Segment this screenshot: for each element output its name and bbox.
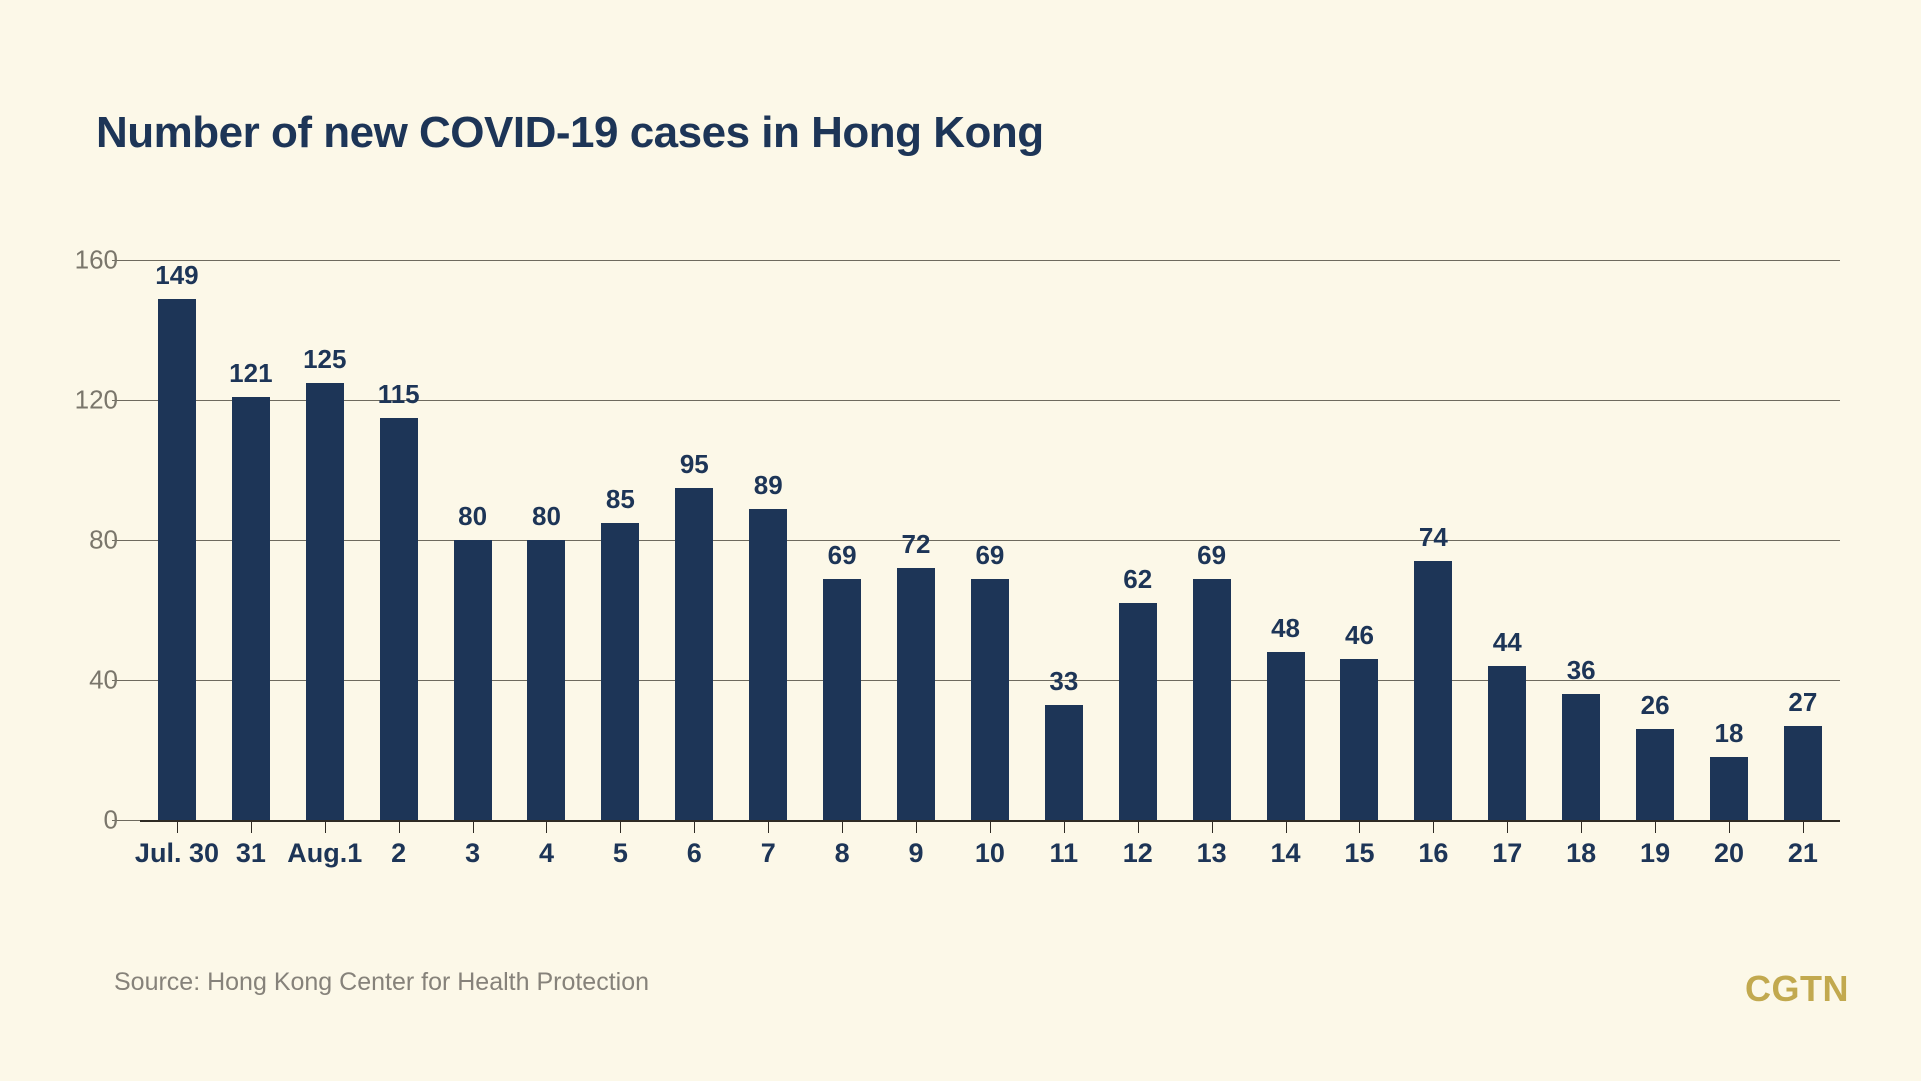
x-axis-tick-slot xyxy=(1027,820,1101,834)
x-axis-tick xyxy=(399,820,400,833)
bar[interactable]: 69 xyxy=(1193,579,1231,821)
x-axis-label-slot: 8 xyxy=(805,838,879,878)
bar-slot: 44 xyxy=(1470,260,1544,820)
x-axis-labels: Jul. 3031Aug.123456789101112131415161718… xyxy=(140,838,1840,878)
bar[interactable]: 46 xyxy=(1340,659,1378,820)
x-axis-tick-slot xyxy=(288,820,362,834)
bar-slot: 95 xyxy=(657,260,731,820)
bar-slot: 69 xyxy=(805,260,879,820)
bar-value-label: 80 xyxy=(458,501,487,532)
x-axis-tick-label: 8 xyxy=(835,838,850,869)
x-axis-label-slot: 18 xyxy=(1544,838,1618,878)
bar[interactable]: 89 xyxy=(749,509,787,821)
chart-title: Number of new COVID-19 cases in Hong Kon… xyxy=(96,108,1044,158)
x-axis-tick-slot xyxy=(583,820,657,834)
x-axis-label-slot: 2 xyxy=(362,838,436,878)
bar-value-label: 69 xyxy=(1197,540,1226,571)
x-axis-tick-label: 21 xyxy=(1788,838,1818,869)
x-axis-tick xyxy=(251,820,252,833)
x-axis-label-slot: 15 xyxy=(1323,838,1397,878)
x-axis-tick xyxy=(1138,820,1139,833)
bar-value-label: 149 xyxy=(155,260,198,291)
x-axis-tick-slot xyxy=(657,820,731,834)
x-axis-tick-label: 14 xyxy=(1271,838,1301,869)
x-axis-tick-slot xyxy=(140,820,214,834)
x-axis-label-slot: 14 xyxy=(1249,838,1323,878)
x-axis-tick-slot xyxy=(1618,820,1692,834)
x-axis-tick-slot xyxy=(731,820,805,834)
x-axis-tick xyxy=(768,820,769,833)
chart-container: Number of new COVID-19 cases in Hong Kon… xyxy=(0,0,1921,1081)
x-axis-tick xyxy=(1064,820,1065,833)
bar[interactable]: 33 xyxy=(1045,705,1083,821)
x-axis-tick-slot xyxy=(1175,820,1249,834)
bar-slot: 125 xyxy=(288,260,362,820)
bar-value-label: 121 xyxy=(229,358,272,389)
bar[interactable]: 62 xyxy=(1119,603,1157,820)
bar[interactable]: 95 xyxy=(675,488,713,821)
x-axis-label-slot: 12 xyxy=(1101,838,1175,878)
x-axis-tick-label: 2 xyxy=(391,838,406,869)
bar-value-label: 115 xyxy=(378,379,420,410)
x-axis-tick-slot xyxy=(362,820,436,834)
bar[interactable]: 115 xyxy=(380,418,418,821)
bar-value-label: 44 xyxy=(1493,627,1522,658)
x-axis-tick xyxy=(916,820,917,833)
x-axis-tick xyxy=(473,820,474,833)
bar[interactable]: 74 xyxy=(1414,561,1452,820)
bar-value-label: 69 xyxy=(975,540,1004,571)
x-axis-tick-slot xyxy=(1396,820,1470,834)
x-axis-tick xyxy=(990,820,991,833)
bars-layer: 1491211251158080859589697269336269484674… xyxy=(140,260,1840,820)
x-axis-tick-label: Jul. 30 xyxy=(135,838,219,869)
x-axis-tick-label: 12 xyxy=(1123,838,1153,869)
x-axis-tick-slot xyxy=(953,820,1027,834)
bar-slot: 115 xyxy=(362,260,436,820)
x-axis-tick-label: 5 xyxy=(613,838,628,869)
y-axis-tick-label: 0 xyxy=(104,805,118,836)
x-axis-label-slot: 20 xyxy=(1692,838,1766,878)
x-axis-tick-label: Aug.1 xyxy=(287,838,362,869)
x-axis-tick-label: 15 xyxy=(1344,838,1374,869)
bar-slot: 121 xyxy=(214,260,288,820)
bar-slot: 36 xyxy=(1544,260,1618,820)
x-axis-tick-label: 4 xyxy=(539,838,554,869)
bar-slot: 62 xyxy=(1101,260,1175,820)
bar-value-label: 125 xyxy=(303,344,346,375)
bar-value-label: 48 xyxy=(1271,613,1300,644)
x-axis-tick-label: 20 xyxy=(1714,838,1744,869)
bar-value-label: 74 xyxy=(1419,522,1448,553)
bar-value-label: 36 xyxy=(1567,655,1596,686)
y-axis-tick-label: 120 xyxy=(75,385,118,416)
x-axis-tick xyxy=(325,820,326,833)
x-axis-label-slot: 31 xyxy=(214,838,288,878)
x-axis-tick-slot xyxy=(1249,820,1323,834)
x-axis-tick-label: 19 xyxy=(1640,838,1670,869)
x-axis-label-slot: 21 xyxy=(1766,838,1840,878)
bar-value-label: 26 xyxy=(1641,690,1670,721)
x-axis-tick-label: 9 xyxy=(909,838,924,869)
x-axis-tick xyxy=(620,820,621,833)
x-axis-tick xyxy=(1359,820,1360,833)
x-axis-tick-slot xyxy=(805,820,879,834)
bar-value-label: 46 xyxy=(1345,620,1374,651)
bar-value-label: 85 xyxy=(606,484,635,515)
x-axis-label-slot: 7 xyxy=(731,838,805,878)
bar-value-label: 27 xyxy=(1788,687,1817,718)
bar-slot: 149 xyxy=(140,260,214,820)
bar[interactable]: 69 xyxy=(971,579,1009,821)
bar-slot: 72 xyxy=(879,260,953,820)
bar-slot: 26 xyxy=(1618,260,1692,820)
bar-slot: 69 xyxy=(953,260,1027,820)
bar-value-label: 69 xyxy=(828,540,857,571)
x-axis-tick xyxy=(1286,820,1287,833)
x-axis-label-slot: 6 xyxy=(657,838,731,878)
bar-value-label: 95 xyxy=(680,449,709,480)
bar[interactable]: 149 xyxy=(158,299,196,821)
x-axis-label-slot: 13 xyxy=(1175,838,1249,878)
source-note: Source: Hong Kong Center for Health Prot… xyxy=(114,968,649,997)
x-axis-tick xyxy=(177,820,178,833)
bar[interactable]: 44 xyxy=(1488,666,1526,820)
bar-slot: 89 xyxy=(731,260,805,820)
cgtn-logo: CGTN xyxy=(1745,968,1849,1010)
bar[interactable]: 69 xyxy=(823,579,861,821)
x-axis-tick-label: 17 xyxy=(1492,838,1522,869)
x-axis-tick-slot xyxy=(436,820,510,834)
bar-slot: 80 xyxy=(436,260,510,820)
bar[interactable]: 125 xyxy=(306,383,344,821)
y-axis-tick-label: 160 xyxy=(75,245,118,276)
x-axis-tick-label: 13 xyxy=(1197,838,1227,869)
bar-slot: 18 xyxy=(1692,260,1766,820)
x-axis-tick-label: 10 xyxy=(975,838,1005,869)
x-axis-tick xyxy=(694,820,695,833)
x-axis-tick-slot xyxy=(879,820,953,834)
x-axis-tick xyxy=(1655,820,1656,833)
x-axis-tick xyxy=(842,820,843,833)
bar-slot: 48 xyxy=(1249,260,1323,820)
x-axis-label-slot: Aug.1 xyxy=(288,838,362,878)
x-axis-tick xyxy=(1212,820,1213,833)
bar[interactable]: 121 xyxy=(232,397,270,821)
bar[interactable]: 85 xyxy=(601,523,639,821)
x-axis-label-slot: 4 xyxy=(510,838,584,878)
bar[interactable]: 26 xyxy=(1636,729,1674,820)
bar[interactable]: 27 xyxy=(1784,726,1822,821)
bar-slot: 69 xyxy=(1175,260,1249,820)
x-axis-label-slot: 19 xyxy=(1618,838,1692,878)
bar-value-label: 80 xyxy=(532,501,561,532)
x-axis-tick-slot xyxy=(510,820,584,834)
x-axis-tick-slot xyxy=(1101,820,1175,834)
x-axis-tickmarks xyxy=(140,820,1840,834)
bar-value-label: 89 xyxy=(754,470,783,501)
x-axis-tick-label: 6 xyxy=(687,838,702,869)
bar-value-label: 62 xyxy=(1123,564,1152,595)
x-axis-tick-label: 31 xyxy=(236,838,266,869)
bar[interactable]: 80 xyxy=(454,540,492,820)
x-axis-tick-slot xyxy=(1692,820,1766,834)
x-axis-label-slot: 3 xyxy=(436,838,510,878)
x-axis-label-slot: Jul. 30 xyxy=(140,838,214,878)
bar[interactable]: 18 xyxy=(1710,757,1748,820)
x-axis-tick xyxy=(1729,820,1730,833)
bar[interactable]: 48 xyxy=(1267,652,1305,820)
x-axis-tick xyxy=(546,820,547,833)
x-axis-label-slot: 17 xyxy=(1470,838,1544,878)
bar-slot: 74 xyxy=(1396,260,1470,820)
x-axis-tick-slot xyxy=(1544,820,1618,834)
x-axis-tick-slot xyxy=(1323,820,1397,834)
x-axis-label-slot: 5 xyxy=(583,838,657,878)
y-axis-tick-label: 40 xyxy=(89,665,118,696)
x-axis-tick-slot xyxy=(214,820,288,834)
x-axis-tick-label: 18 xyxy=(1566,838,1596,869)
x-axis-tick xyxy=(1433,820,1434,833)
bar-slot: 46 xyxy=(1323,260,1397,820)
bar[interactable]: 72 xyxy=(897,568,935,820)
bar-value-label: 18 xyxy=(1715,718,1744,749)
x-axis-tick-label: 16 xyxy=(1418,838,1448,869)
plot-area: 04080120160 1491211251158080859589697269… xyxy=(140,260,1840,820)
bar-value-label: 72 xyxy=(902,529,931,560)
bar-slot: 33 xyxy=(1027,260,1101,820)
x-axis-label-slot: 16 xyxy=(1396,838,1470,878)
x-axis-tick-label: 3 xyxy=(465,838,480,869)
x-axis-tick-slot xyxy=(1766,820,1840,834)
bar[interactable]: 36 xyxy=(1562,694,1600,820)
bar-slot: 80 xyxy=(510,260,584,820)
bar[interactable]: 80 xyxy=(527,540,565,820)
x-axis-label-slot: 11 xyxy=(1027,838,1101,878)
y-axis-tick-label: 80 xyxy=(89,525,118,556)
bar-slot: 27 xyxy=(1766,260,1840,820)
bar-value-label: 33 xyxy=(1049,666,1078,697)
x-axis-label-slot: 10 xyxy=(953,838,1027,878)
x-axis-tick-label: 11 xyxy=(1050,838,1079,869)
x-axis-label-slot: 9 xyxy=(879,838,953,878)
x-axis-tick-slot xyxy=(1470,820,1544,834)
bar-slot: 85 xyxy=(583,260,657,820)
x-axis-tick xyxy=(1581,820,1582,833)
x-axis-tick-label: 7 xyxy=(761,838,776,869)
x-axis-tick xyxy=(1803,820,1804,833)
x-axis-tick xyxy=(1507,820,1508,833)
